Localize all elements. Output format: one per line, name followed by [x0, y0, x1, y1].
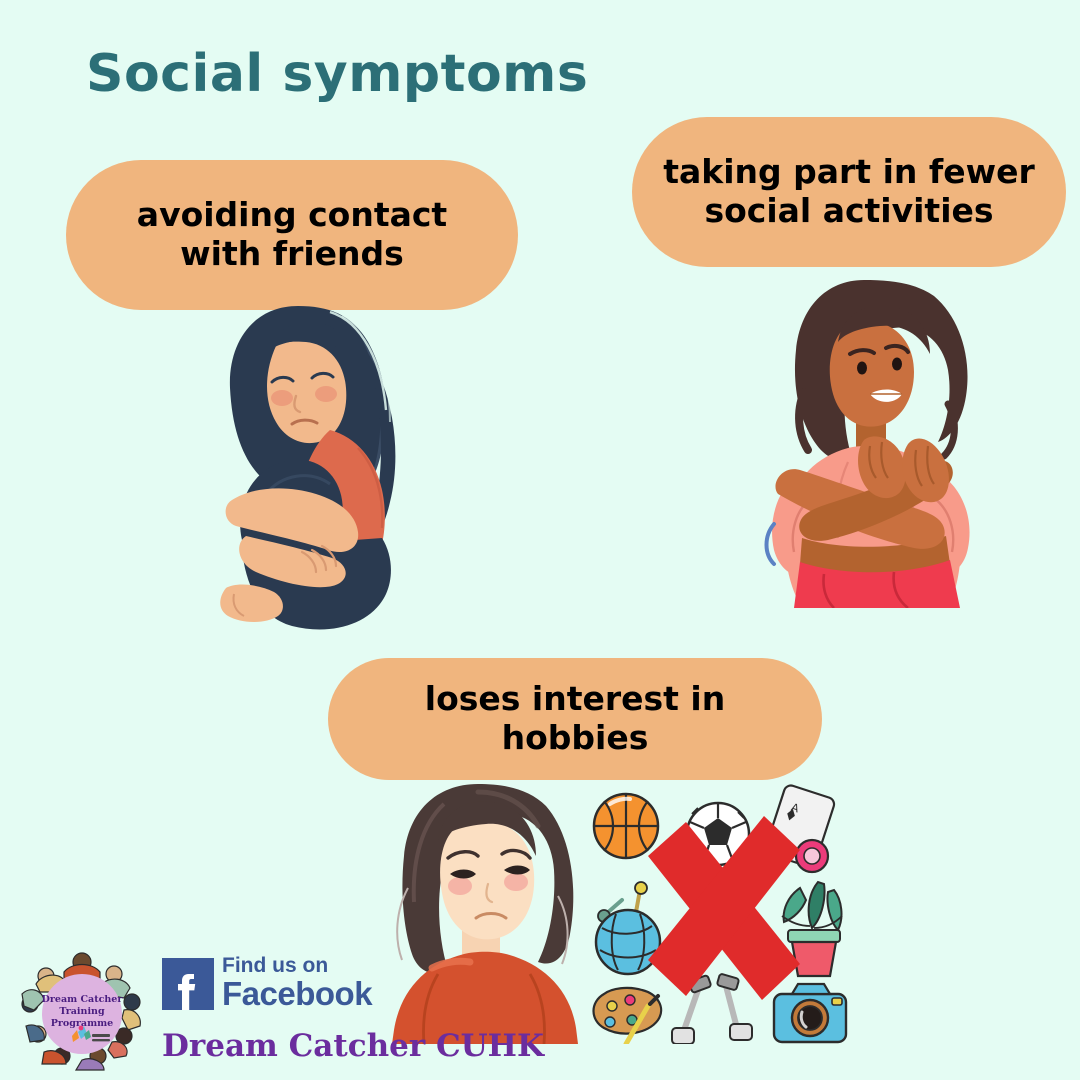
facebook-wordmark: Facebook [222, 977, 372, 1011]
sad-woman-hugging-knees-illustration [180, 288, 410, 632]
symptom-pill-hobbies: loses interest in hobbies [328, 658, 822, 780]
facebook-callout[interactable]: Find us on Facebook [162, 958, 362, 1018]
logo-line-1: Dream Catcher [42, 994, 124, 1005]
facebook-find-us-label: Find us on [222, 955, 372, 977]
facebook-text: Find us on Facebook [222, 955, 372, 1011]
camera-icon [774, 984, 846, 1042]
symptom-pill-activities-label: taking part in fewer social activities [658, 153, 1040, 231]
woman-crossed-arms-refusing-illustration [752, 272, 984, 608]
sad-girl-portrait-illustration [378, 778, 588, 1044]
facebook-icon[interactable] [162, 958, 214, 1010]
facebook-page-handle[interactable]: Dream Catcher CUHK [162, 1028, 544, 1064]
logo-line-2: Training [59, 1006, 105, 1017]
poster-canvas: Social symptoms avoiding contact with fr… [0, 0, 1080, 1080]
paint-palette-icon [594, 988, 662, 1044]
symptom-pill-avoiding-label: avoiding contact with friends [92, 196, 492, 274]
symptom-pill-activities: taking part in fewer social activities [632, 117, 1066, 267]
basketball-icon [594, 794, 658, 858]
symptom-pill-hobbies-label: loses interest in hobbies [354, 680, 796, 758]
hobbies-crossed-out-illustration: A [586, 778, 854, 1044]
dream-catcher-logo: Dream Catcher Training Programme [18, 952, 146, 1074]
page-title: Social symptoms [86, 44, 588, 104]
